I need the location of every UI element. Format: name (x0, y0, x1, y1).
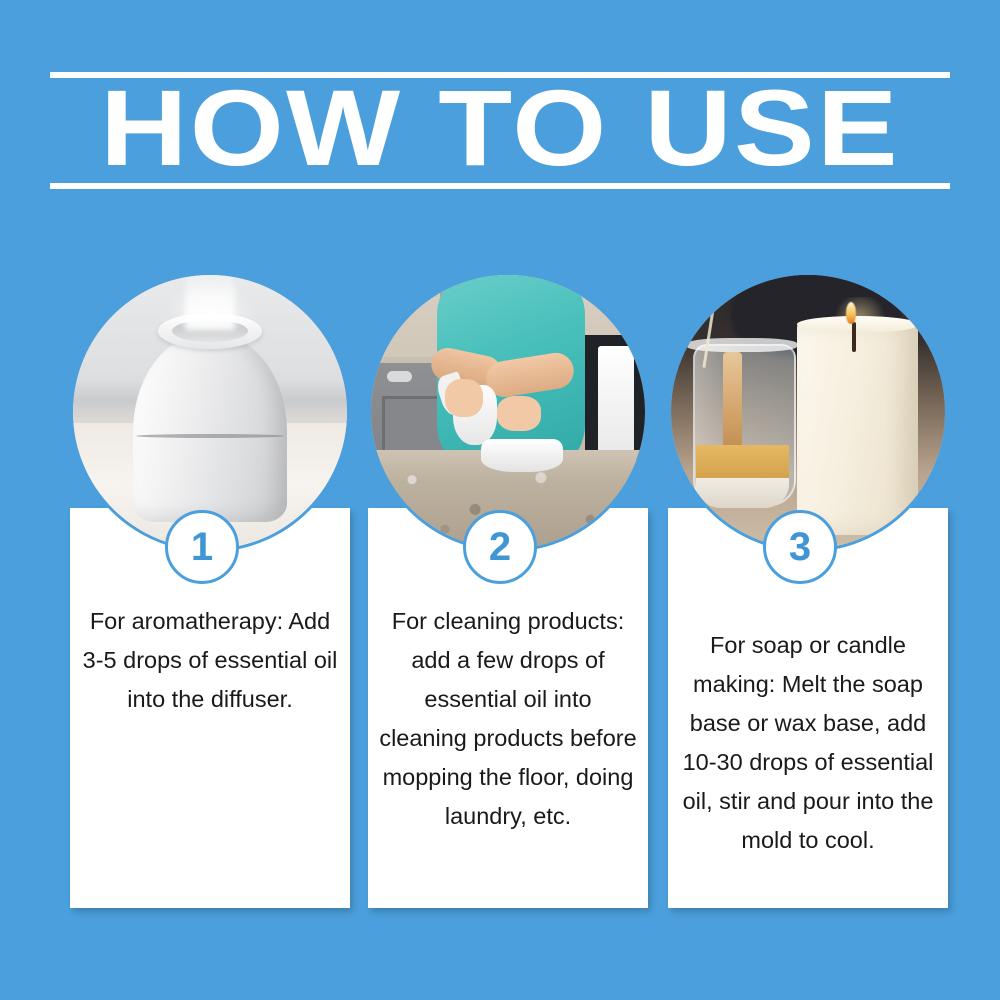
step-2-badge: 2 (463, 510, 537, 584)
steps-container: 1 For aromatherapy: Add 3-5 drops of ess… (0, 0, 1000, 1000)
step-3-badge: 3 (763, 510, 837, 584)
candle-and-jar-illustration (671, 275, 945, 549)
diffuser-illustration (73, 275, 347, 549)
cleaning-countertop-illustration (371, 275, 645, 549)
step-3-text: For soap or candle making: Melt the soap… (678, 626, 938, 860)
step-1-text: For aromatherapy: Add 3-5 drops of essen… (80, 602, 340, 719)
step-2-text: For cleaning products: add a few drops o… (378, 602, 638, 836)
step-1-badge: 1 (165, 510, 239, 584)
